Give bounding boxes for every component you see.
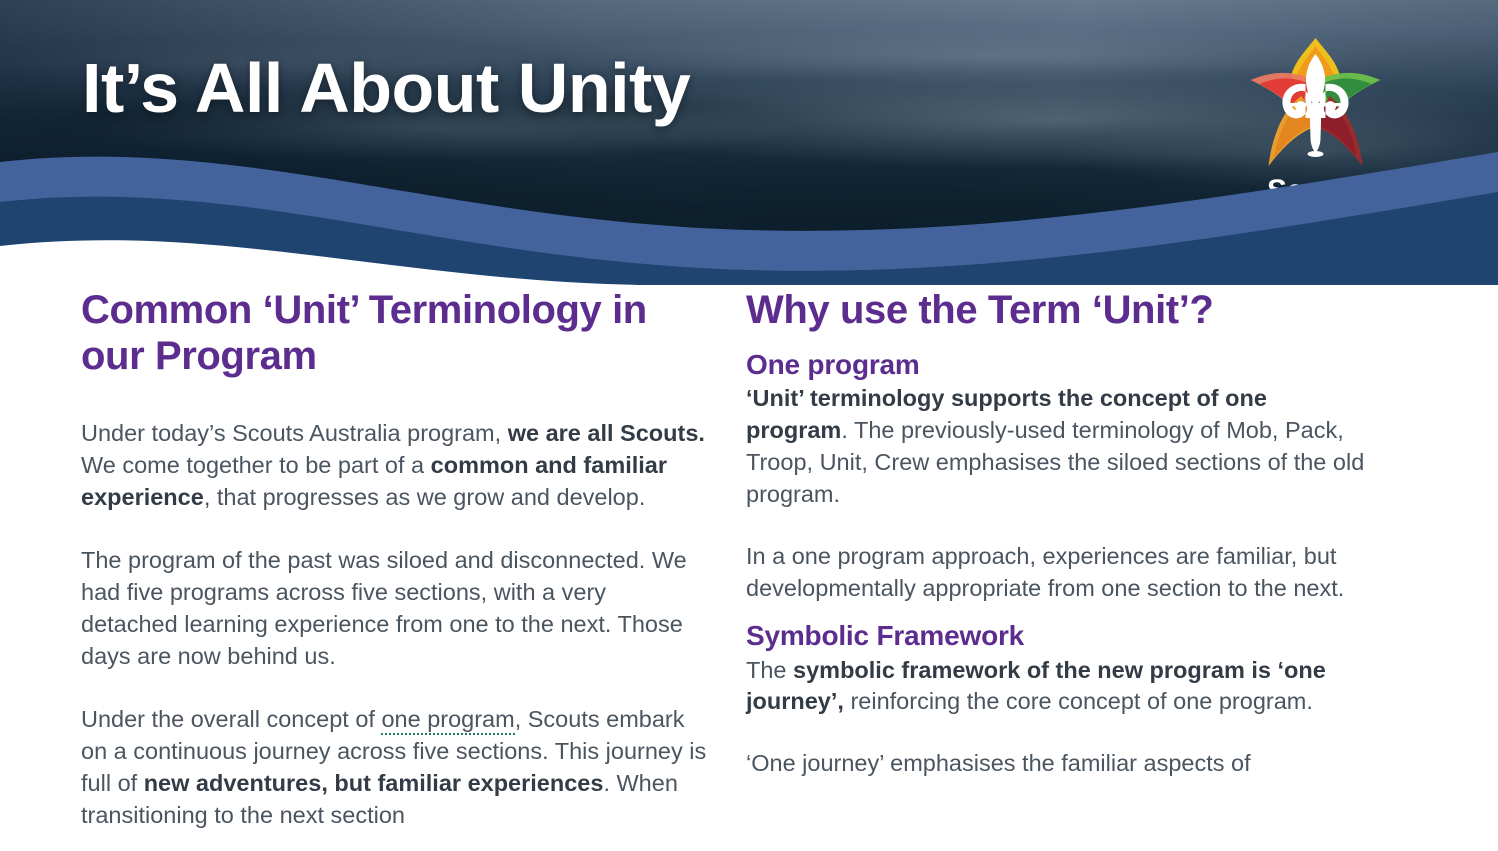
left-column-heading: Common ‘Unit’ Terminology in our Program bbox=[81, 288, 709, 379]
left-paragraph-1: Under today’s Scouts Australia program, … bbox=[81, 418, 709, 514]
wave-divider bbox=[0, 150, 1498, 285]
left-paragraph-3: Under the overall concept of one program… bbox=[81, 704, 709, 832]
text-run: Under today’s Scouts Australia program, bbox=[81, 420, 508, 446]
right-paragraph-4: ‘One journey’ emphasises the familiar as… bbox=[746, 748, 1371, 780]
text-run-bold: we are all Scouts. bbox=[508, 420, 705, 446]
text-run-bold: new adventures, but familiar experiences bbox=[144, 770, 604, 796]
content-area: Common ‘Unit’ Terminology in our Program… bbox=[0, 288, 1498, 851]
text-run: The bbox=[746, 657, 793, 683]
right-paragraph-2: In a one program approach, experiences a… bbox=[746, 541, 1371, 605]
left-paragraph-2: The program of the past was siloed and d… bbox=[81, 545, 709, 673]
subheading-symbolic-framework: Symbolic Framework bbox=[746, 619, 1371, 653]
left-column: Common ‘Unit’ Terminology in our Program… bbox=[81, 288, 709, 832]
right-paragraph-3: The symbolic framework of the new progra… bbox=[746, 655, 1371, 719]
text-run: Under the overall concept of bbox=[81, 706, 381, 732]
subheading-one-program: One program bbox=[746, 348, 1371, 382]
text-run: reinforcing the core concept of one prog… bbox=[844, 688, 1313, 714]
text-run: We come together to be part of a bbox=[81, 452, 431, 478]
text-run: , that progresses as we grow and develop… bbox=[204, 484, 646, 510]
right-column-heading: Why use the Term ‘Unit’? bbox=[746, 288, 1371, 334]
right-column: Why use the Term ‘Unit’? One program ‘Un… bbox=[746, 288, 1371, 780]
page-title: It’s All About Unity bbox=[82, 52, 690, 126]
right-paragraph-1: ‘Unit’ terminology supports the concept … bbox=[746, 383, 1371, 511]
grammar-marked-text: one program bbox=[381, 706, 514, 735]
